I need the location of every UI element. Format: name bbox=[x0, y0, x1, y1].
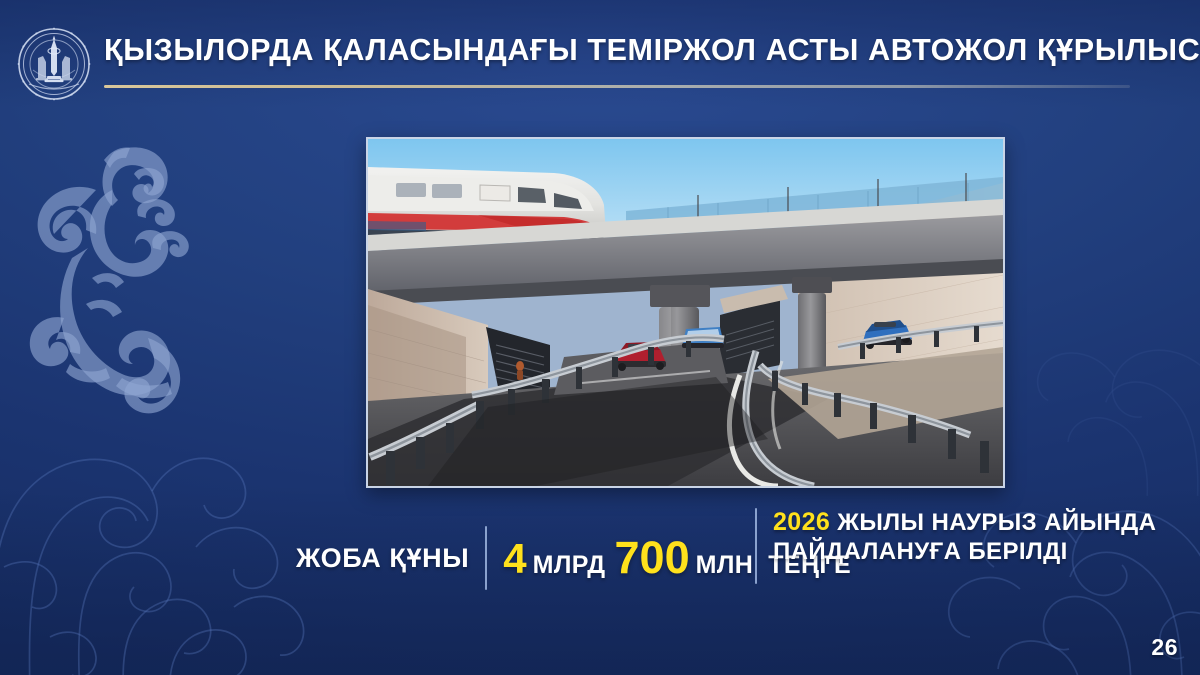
completion-date-block: 2026 ЖЫЛЫ НАУРЫЗ АЙЫНДА ПАЙДАЛАНУҒА БЕРІ… bbox=[755, 508, 1156, 584]
snow-leopard-ornament bbox=[18, 138, 208, 438]
caption-row: ЖОБА ҚҰНЫ 4 МЛРД 700 МЛН ТЕҢГЕ 2026 ЖЫЛЫ… bbox=[0, 500, 1200, 595]
completion-year: 2026 bbox=[773, 508, 830, 536]
kazakhstan-emblem-icon bbox=[16, 26, 92, 102]
caption-divider-2 bbox=[755, 508, 757, 584]
page-title: ҚЫЗЫЛОРДА ҚАЛАСЫНДАҒЫ ТЕМІРЖОЛ АСТЫ АВТО… bbox=[104, 34, 1144, 66]
page-number: 26 bbox=[1151, 634, 1178, 661]
slide-root: ҚЫЗЫЛОРДА ҚАЛАСЫНДАҒЫ ТЕМІРЖОЛ АСТЫ АВТО… bbox=[0, 0, 1200, 675]
cost-billions-value: 4 bbox=[503, 535, 526, 583]
completion-date-line-1-rest: ЖЫЛЫ НАУРЫЗ АЙЫНДА bbox=[830, 509, 1156, 536]
cost-millions-unit: МЛН bbox=[696, 551, 754, 580]
cost-billions-unit: МЛРД bbox=[533, 551, 606, 580]
completion-date-line-2: ПАЙДАЛАНУҒА БЕРІЛДІ bbox=[773, 538, 1156, 566]
completion-date-line-1: 2026 ЖЫЛЫ НАУРЫЗ АЙЫНДА bbox=[773, 508, 1156, 538]
ornament-right-mid bbox=[1032, 311, 1200, 500]
project-photo bbox=[366, 137, 1005, 488]
caption-divider-1 bbox=[485, 526, 487, 590]
title-divider-rule bbox=[104, 85, 1130, 88]
slide-header: ҚЫЗЫЛОРДА ҚАЛАСЫНДАҒЫ ТЕМІРЖОЛ АСТЫ АВТО… bbox=[0, 0, 1200, 112]
completion-date-text: 2026 ЖЫЛЫ НАУРЫЗ АЙЫНДА ПАЙДАЛАНУҒА БЕРІ… bbox=[773, 508, 1156, 566]
project-cost-label: ЖОБА ҚҰНЫ bbox=[296, 543, 469, 574]
cost-millions-value: 700 bbox=[615, 532, 690, 584]
project-photo-image bbox=[368, 139, 1003, 486]
